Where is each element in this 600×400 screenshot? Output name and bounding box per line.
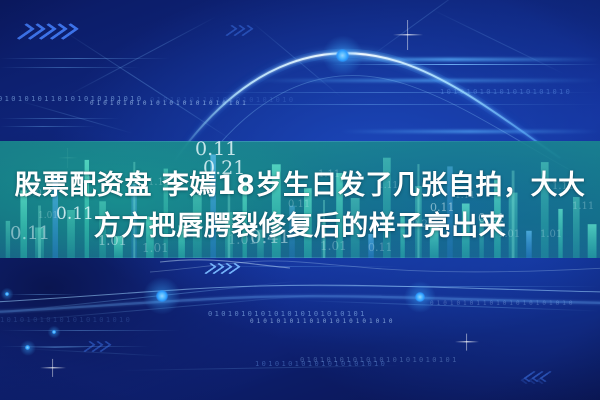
headline-line-1: 股票配资盘 李嫣18岁生日发了几张自拍，大大 bbox=[0, 163, 600, 202]
banner-image: 0101010110101010101010 01010101010101010… bbox=[0, 0, 600, 400]
headline-line-2: 方方把唇腭裂修复后的样子亮出来 bbox=[0, 204, 600, 243]
